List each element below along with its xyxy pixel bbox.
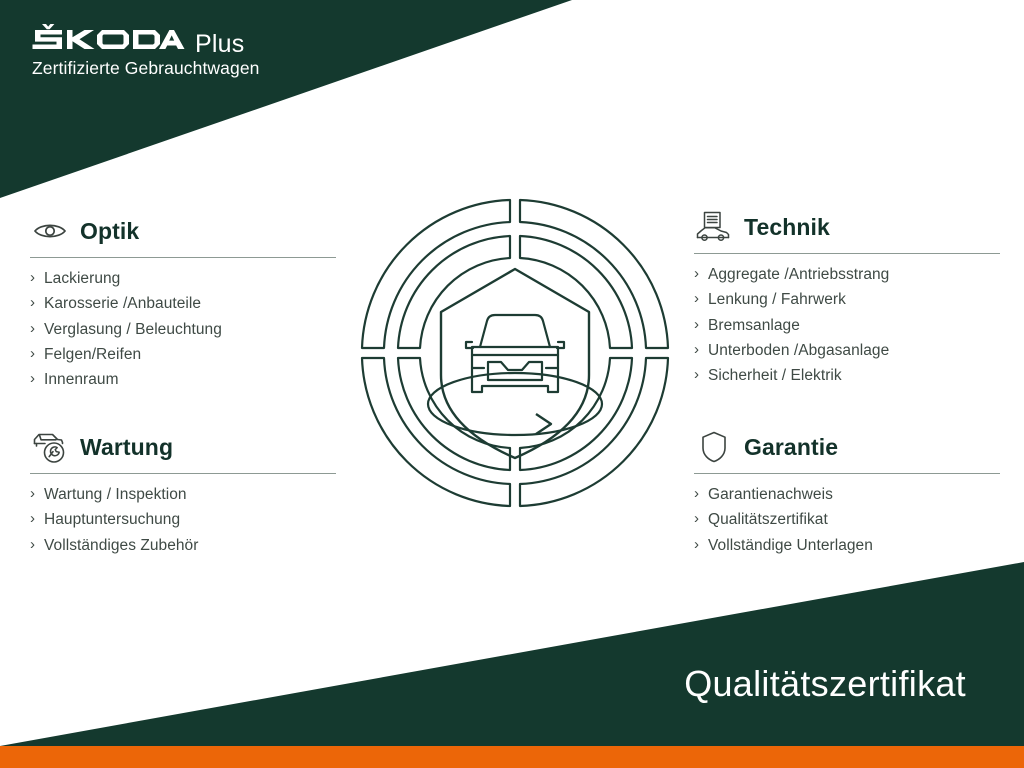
list-item: Unterboden /Abgasanlage xyxy=(694,338,1002,363)
brand-suffix: Plus xyxy=(195,32,244,57)
shielded-car-in-rings-icon xyxy=(358,196,672,510)
car-wrench-icon xyxy=(30,429,70,465)
section-item-list: Aggregate /Antriebsstrang Lenkung / Fahr… xyxy=(694,262,1002,388)
list-item: Hauptuntersuchung xyxy=(30,507,338,532)
skoda-wordmark-icon xyxy=(32,24,186,52)
section-header: Garantie xyxy=(694,428,1002,466)
section-item-list: Lackierung Karosserie /Anbauteile Vergla… xyxy=(30,266,338,392)
list-item: Karosserie /Anbauteile xyxy=(30,291,338,316)
section-divider xyxy=(694,473,1000,474)
brand-lockup: Plus Zertifizierte Gebrauchtwagen xyxy=(32,24,260,78)
list-item: Felgen/Reifen xyxy=(30,342,338,367)
list-item: Wartung / Inspektion xyxy=(30,482,338,507)
list-item: Verglasung / Beleuchtung xyxy=(30,317,338,342)
section-item-list: Garantienachweis Qualitätszertifikat Vol… xyxy=(694,482,1002,558)
footer-title: Qualitätszertifikat xyxy=(684,666,966,702)
list-item: Innenraum xyxy=(30,367,338,392)
list-item: Bremsanlage xyxy=(694,313,1002,338)
section-header: Wartung xyxy=(30,428,338,466)
document-car-icon xyxy=(694,209,734,245)
section-divider xyxy=(30,257,336,258)
eye-icon xyxy=(30,213,70,249)
section-divider xyxy=(30,473,336,474)
section-header: Technik xyxy=(694,208,1002,246)
section-garantie: Garantie Garantienachweis Qualitätszerti… xyxy=(694,428,1002,558)
section-header: Optik xyxy=(30,212,338,250)
orange-footer-bar xyxy=(0,746,1024,768)
section-divider xyxy=(694,253,1000,254)
list-item: Vollständige Unterlagen xyxy=(694,533,1002,558)
list-item: Vollständiges Zubehör xyxy=(30,533,338,558)
brand-tagline: Zertifizierte Gebrauchtwagen xyxy=(32,59,260,78)
section-wartung: Wartung Wartung / Inspektion Hauptunters… xyxy=(30,428,338,558)
list-item: Lenkung / Fahrwerk xyxy=(694,287,1002,312)
list-item: Lackierung xyxy=(30,266,338,291)
list-item: Aggregate /Antriebsstrang xyxy=(694,262,1002,287)
section-optik: Optik Lackierung Karosserie /Anbauteile … xyxy=(30,212,338,392)
list-item: Sicherheit / Elektrik xyxy=(694,363,1002,388)
brand-line-primary: Plus xyxy=(32,24,260,54)
section-title: Wartung xyxy=(80,436,173,459)
shield-icon xyxy=(694,429,734,465)
section-item-list: Wartung / Inspektion Hauptuntersuchung V… xyxy=(30,482,338,558)
section-technik: Technik Aggregate /Antriebsstrang Lenkun… xyxy=(694,208,1002,388)
section-title: Technik xyxy=(744,216,830,239)
bottom-green-banner xyxy=(0,562,1024,746)
list-item: Garantienachweis xyxy=(694,482,1002,507)
quality-certificate-page: Plus Zertifizierte Gebrauchtwagen Optik … xyxy=(0,0,1024,768)
section-title: Garantie xyxy=(744,436,838,459)
section-title: Optik xyxy=(80,220,139,243)
list-item: Qualitätszertifikat xyxy=(694,507,1002,532)
